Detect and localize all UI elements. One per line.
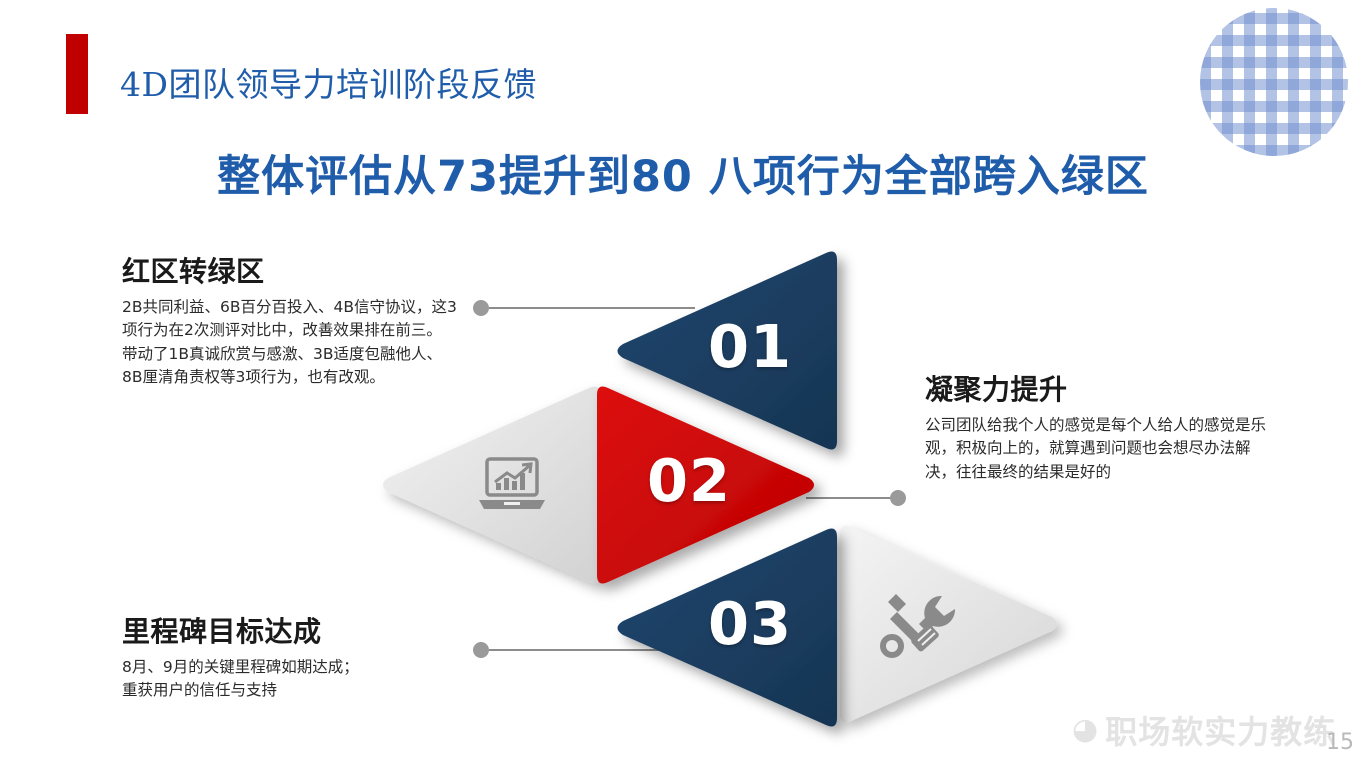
triangle-gray-right xyxy=(840,522,1062,726)
triangle-step-03: 03 xyxy=(612,525,837,730)
watermark: ◕ 职场软实力教练 xyxy=(1072,707,1336,753)
wrench-screwdriver-icon xyxy=(882,592,954,658)
triangle-number-03: 03 xyxy=(708,589,792,658)
block-title-cohesion: 凝聚力提升 xyxy=(925,368,1270,408)
block-body-red-to-green: 2B共同利益、6B百分百投入、4B信守协议，这3项行为在2次测评对比中，改善效果… xyxy=(122,296,460,389)
page-number: 15 xyxy=(1326,730,1354,755)
laptop-chart-icon xyxy=(476,455,550,517)
connector-dot-1 xyxy=(473,300,489,316)
weibo-logo-icon: ◕ xyxy=(1072,715,1099,745)
block-body-milestone: 8月、9月的关键里程碑如期达成； 重获用户的信任与支持 xyxy=(122,656,460,703)
triangle-gray-left xyxy=(378,383,600,587)
watermark-text: 职场软实力教练 xyxy=(1105,707,1336,753)
block-title-red-to-green: 红区转绿区 xyxy=(122,250,460,290)
accent-bar xyxy=(66,34,88,114)
slide: 4D团队领导力培训阶段反馈 整体评估从73提升到80 八项行为全部跨入绿区 xyxy=(0,0,1366,768)
block-body-cohesion: 公司团队给我个人的感觉是每个人给人的感觉是乐观，积极向上的，就算遇到问题也会想尽… xyxy=(925,414,1270,484)
gingham-circle xyxy=(1200,8,1348,156)
connector-dot-2 xyxy=(890,490,906,506)
triangle-number-01: 01 xyxy=(708,312,792,381)
triangle-number-02: 02 xyxy=(647,446,731,515)
page-title: 整体评估从73提升到80 八项行为全部跨入绿区 xyxy=(0,142,1366,204)
text-block-cohesion: 凝聚力提升 公司团队给我个人的感觉是每个人给人的感觉是乐观，积极向上的，就算遇到… xyxy=(925,368,1270,484)
text-block-milestone: 里程碑目标达成 8月、9月的关键里程碑如期达成； 重获用户的信任与支持 xyxy=(122,610,460,703)
page-kicker: 4D团队领导力培训阶段反馈 xyxy=(120,58,537,106)
block-title-milestone: 里程碑目标达成 xyxy=(122,610,460,650)
connector-dot-3 xyxy=(473,642,489,658)
text-block-red-to-green: 红区转绿区 2B共同利益、6B百分百投入、4B信守协议，这3项行为在2次测评对比… xyxy=(122,250,460,389)
connector-line-2 xyxy=(806,497,894,499)
